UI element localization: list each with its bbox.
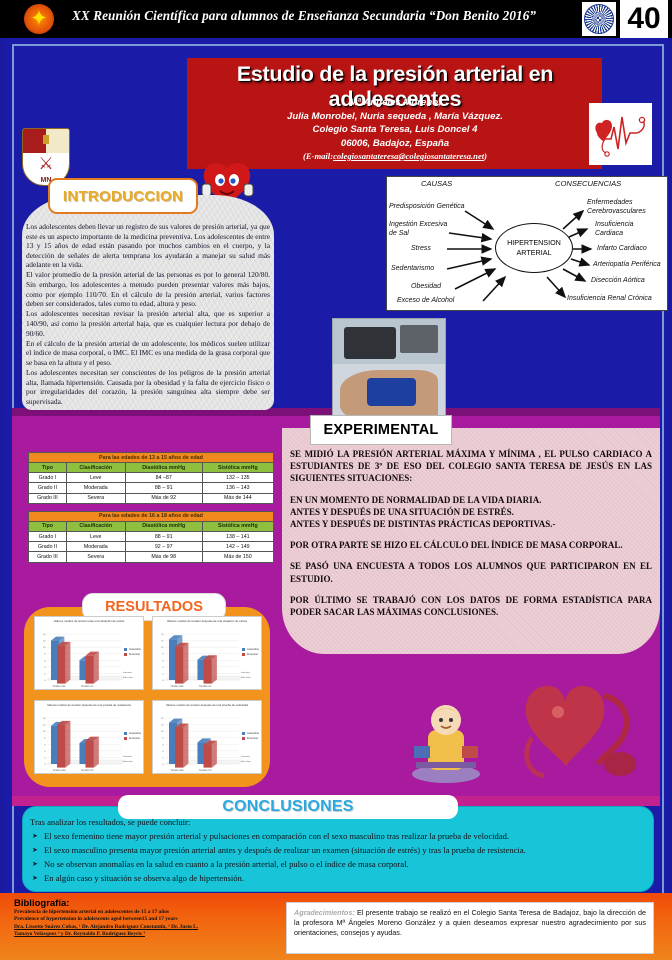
table-header: Clasificación — [66, 463, 125, 473]
diagram-consequence-label: Insuficiencia Renal Crónica — [567, 295, 652, 304]
bibliografia-line: Prevalence of hypertension in adolescent… — [14, 916, 266, 923]
svg-text:2: 2 — [44, 673, 46, 675]
experimental-paragraph: POR ÚLTIMO SE TRABAJÓ CON LOS DATOS DE F… — [290, 594, 652, 618]
intro-paragraph: Los adolescentes necesitan ser conscient… — [26, 368, 270, 406]
table-cell: Grado I — [29, 473, 67, 483]
classification-tables: Para las edades de 13 a 15 años de edad … — [28, 452, 274, 570]
experimental-paragraph: ANTES Y DESPUÉS DE DISTINTAS PRÁCTICAS D… — [290, 518, 652, 530]
svg-text:Tensión mín: Tensión mín — [199, 770, 212, 772]
table-cell: Grado I — [29, 531, 67, 541]
bp-table-16-18: Para las edades de 16 a 18 años de edad … — [28, 511, 274, 563]
conclusiones-lead: Tras analizar los resultados, se puede c… — [30, 816, 646, 829]
svg-text:10: 10 — [43, 647, 46, 649]
poster-number: 40 — [620, 0, 668, 38]
diagram-consequence-label: Disección Aórtica — [591, 277, 645, 286]
table-cell: Leve — [66, 531, 125, 541]
intro-paragraph: Los adolescentes deben llevar un registr… — [26, 222, 270, 270]
svg-text:8: 8 — [44, 654, 46, 656]
chart-tension-prueba-velocidad: Valores medios de tensión después de una… — [152, 700, 262, 774]
diagram-cause-label: Exceso de Alcohol — [397, 297, 454, 306]
institutional-seal-icon — [582, 2, 616, 36]
resultados-badge-label: RESULTADOS — [105, 599, 203, 615]
svg-text:12: 12 — [161, 641, 164, 643]
table-cell: 88 – 91 — [125, 483, 202, 493]
svg-text:Tensión mín: Tensión mín — [81, 686, 94, 688]
chart-legend: masculinofemenino — [242, 647, 259, 657]
author-block: Mª.Angeles Moreno, Julia Monrobel, Nuria… — [190, 96, 600, 164]
svg-text:6: 6 — [162, 744, 164, 746]
chart-tension-antes-estres: Valores medios de tensión ante una situa… — [34, 616, 144, 690]
table-cell: Severa — [66, 493, 125, 503]
bibliografia-line: Tamayo Velásquez ³ y Dr. Reynaldo P. Rod… — [14, 931, 266, 938]
table-cell: Leve — [66, 473, 125, 483]
affiliation-line-1: Colegio Santa Teresa, Luis Doncel 4 — [190, 123, 600, 137]
bibliografia-block: Bibliografía: Prevalencia de hipertensió… — [14, 898, 266, 939]
list-item: El sexo masculino presenta mayor presión… — [30, 844, 646, 857]
diagram-cause-label: Sedentarismo — [391, 265, 434, 274]
table-caption: Para las edades de 16 a 18 años de edad — [29, 511, 274, 521]
svg-text:14: 14 — [43, 718, 46, 720]
heart-ecg-stethoscope-icon — [589, 103, 652, 165]
table-cell: 136 – 143 — [202, 483, 273, 493]
conclusiones-badge-label: CONCLUSIONES — [222, 798, 353, 816]
table-row: Grado I Leve 84 –87 132 – 135 — [29, 473, 274, 483]
diagram-cause-label: Stress — [411, 245, 431, 254]
email-link[interactable]: colegiosantateresa@colegiosantateresa.ne… — [333, 151, 484, 161]
table-header: Diastólica mmHg — [125, 521, 202, 531]
svg-text:0: 0 — [162, 680, 164, 682]
table-row: Grado III Severa Más de 92 Más de 144 — [29, 493, 274, 503]
svg-text:6: 6 — [44, 660, 46, 662]
svg-text:10: 10 — [43, 731, 46, 733]
experimental-text: SE MIDIÓ LA PRESIÓN ARTERIAL MÁXIMA Y MÍ… — [290, 448, 652, 627]
table-row: Grado III Severa Más de 98 Más de 150 — [29, 552, 274, 562]
table-cell: 138 – 141 — [202, 531, 273, 541]
list-item: El sexo femenino tiene mayor presión art… — [30, 830, 646, 843]
diagram-cause-label: Ingestión Excesiva de Sal — [389, 221, 447, 238]
chart-title: Valores medios de tensión después de una… — [153, 703, 261, 707]
svg-text:12: 12 — [43, 725, 46, 727]
table-header: Tipo — [29, 463, 67, 473]
svg-text:Tensión mín: Tensión mín — [81, 770, 94, 772]
diagram-consequence-label: Arteriopatía Periférica — [593, 261, 661, 270]
table-cell: 92 – 97 — [125, 542, 202, 552]
legend-entry: femenino — [242, 652, 259, 657]
table-header: Sistólica mmHg — [202, 521, 273, 531]
table-cell: Más de 150 — [202, 552, 273, 562]
table-cell: 88 – 91 — [125, 531, 202, 541]
intro-paragraph: En el cálculo de la presión arterial de … — [26, 339, 270, 368]
author-line-1: Mª.Angeles Moreno, — [190, 96, 600, 110]
table-cell: 132 – 135 — [202, 473, 273, 483]
experimental-paragraph: ANTES Y DESPUÉS DE UNA SITUACIÓN DE ESTR… — [290, 506, 652, 518]
svg-text:6: 6 — [44, 744, 46, 746]
svg-text:masculino: masculino — [241, 677, 252, 679]
svg-text:femenino: femenino — [123, 756, 133, 758]
svg-text:8: 8 — [162, 738, 164, 740]
experimental-badge-label: EXPERIMENTAL — [324, 422, 439, 438]
table-header: Tipo — [29, 521, 67, 531]
conference-title: XX Reunión Científica para alumnos de En… — [72, 8, 552, 24]
svg-text:8: 8 — [44, 738, 46, 740]
svg-text:12: 12 — [161, 725, 164, 727]
svg-text:Tensión máx: Tensión máx — [53, 770, 67, 772]
table-cell: Más de 98 — [125, 552, 202, 562]
diagram-cause-label: Predisposición Genética — [389, 203, 465, 212]
bibliografia-line: Dra. Lissette Suárez Cobas, ¹ Dr. Alejan… — [14, 924, 266, 931]
chart-legend: masculinofemenino — [242, 731, 259, 741]
table-cell: Moderada — [66, 483, 125, 493]
chart-title: Valores medios de tensión después de una… — [153, 619, 261, 623]
svg-text:Tensión mín: Tensión mín — [199, 686, 212, 688]
table-cell: Más de 144 — [202, 493, 273, 503]
introduccion-text: Los adolescentes deben llevar un registr… — [26, 222, 270, 407]
legend-entry: femenino — [242, 736, 259, 741]
svg-text:2: 2 — [162, 673, 164, 675]
table-cell: Severa — [66, 552, 125, 562]
conclusiones-list: Tras analizar los resultados, se puede c… — [30, 816, 646, 886]
svg-text:14: 14 — [161, 634, 164, 636]
table-cell: Grado II — [29, 542, 67, 552]
email-label: E-mail: — [306, 151, 333, 161]
intro-paragraph: Los adolescentes necesitan revisar la pr… — [26, 309, 270, 338]
blood-pressure-cuff-photo — [332, 318, 446, 426]
svg-text:2: 2 — [162, 757, 164, 759]
poster-root: ✦ XX Reunión Científica para alumnos de … — [0, 0, 672, 960]
diagram-consequence-label: Insuficiencia Cardiaca — [595, 221, 634, 238]
table-row: Grado II Moderada 92 – 97 142 – 149 — [29, 542, 274, 552]
table-header: Clasificación — [66, 521, 125, 531]
table-cell: Grado III — [29, 552, 67, 562]
diagram-center-line-1: HIPERTENSION — [507, 238, 561, 248]
svg-text:masculino: masculino — [123, 761, 134, 763]
list-item: En algún caso y situación se observa alg… — [30, 872, 646, 885]
svg-text:femenino: femenino — [123, 672, 133, 674]
anatomy-organs-clipart-icon — [508, 668, 648, 788]
experimental-paragraph: EN UN MOMENTO DE NORMALIDAD DE LA VIDA D… — [290, 494, 652, 506]
svg-text:4: 4 — [162, 751, 164, 753]
legend-entry: femenino — [124, 736, 141, 741]
table-cell: 84 –87 — [125, 473, 202, 483]
table-cell: Grado II — [29, 483, 67, 493]
svg-text:4: 4 — [44, 667, 46, 669]
svg-text:6: 6 — [162, 660, 164, 662]
svg-text:Tensión máx: Tensión máx — [53, 686, 67, 688]
author-line-2: Julia Monrobel, Nuria sequeda , María Vá… — [190, 110, 600, 124]
svg-text:4: 4 — [44, 751, 46, 753]
experimental-paragraph: SE PASÓ UNA ENCUESTA A TODOS LOS ALUMNOS… — [290, 560, 652, 584]
table-cell: 142 – 149 — [202, 542, 273, 552]
table-cell: Moderada — [66, 542, 125, 552]
svg-text:femenino: femenino — [241, 672, 251, 674]
bp-table-13-15: Para las edades de 13 a 15 años de edad … — [28, 452, 274, 504]
svg-text:14: 14 — [161, 718, 164, 720]
legend-entry: femenino — [124, 652, 141, 657]
diagram-cause-label: Obesidad — [411, 283, 441, 292]
agradecimientos-label: Agradecimientos: — [294, 908, 355, 917]
intro-paragraph: El valor promedio de la presión arterial… — [26, 270, 270, 308]
experimental-paragraph: POR OTRA PARTE SE HIZO EL CÁLCULO DEL ÍN… — [290, 539, 652, 551]
experimental-paragraph: SE MIDIÓ LA PRESIÓN ARTERIAL MÁXIMA Y MÍ… — [290, 448, 652, 485]
diagram-center-line-2: ARTERIAL — [516, 248, 551, 258]
svg-text:12: 12 — [43, 641, 46, 643]
chart-tension-prueba-resistencia: Valores medios de tensión después de una… — [34, 700, 144, 774]
svg-text:Tensión máx: Tensión máx — [171, 770, 185, 772]
table-row: Grado II Moderada 88 – 91 136 – 143 — [29, 483, 274, 493]
chart-tension-despues-estres: Valores medios de tensión después de una… — [152, 616, 262, 690]
svg-text:4: 4 — [162, 667, 164, 669]
chart-legend: masculinofemenino — [124, 731, 141, 741]
table-caption: Para las edades de 13 a 15 años de edad — [29, 453, 274, 463]
chart-title: Valores medios de tensión ante una situa… — [35, 619, 143, 623]
svg-text:10: 10 — [161, 731, 164, 733]
svg-text:14: 14 — [43, 634, 46, 636]
affiliation-line-2: 06006, Badajoz, España — [190, 137, 600, 151]
svg-text:0: 0 — [44, 680, 46, 682]
agradecimientos-box: Agradecimientos: El presente trabajo se … — [286, 902, 654, 954]
bibliografia-title: Bibliografía: — [14, 898, 266, 909]
chart-legend: masculinofemenino — [124, 647, 141, 657]
table-row: Grado I Leve 88 – 91 138 – 141 — [29, 531, 274, 541]
svg-text:0: 0 — [162, 764, 164, 766]
experimental-badge: EXPERIMENTAL — [310, 415, 452, 445]
introduccion-badge: INTRODUCCION — [48, 178, 198, 214]
svg-text:femenino: femenino — [241, 756, 251, 758]
table-header: Sistólica mmHg — [202, 463, 273, 473]
svg-text:10: 10 — [161, 647, 164, 649]
table-cell: Grado III — [29, 493, 67, 503]
bibliografia-line: Prevalencia de hipertensión arterial en … — [14, 909, 266, 916]
list-item: No se observan anomalías en la salud en … — [30, 858, 646, 871]
diagram-center-node: HIPERTENSION ARTERIAL — [495, 223, 573, 273]
hypertension-causes-consequences-diagram: CAUSAS CONSECUENCIAS HIPERTENSION — [386, 176, 668, 311]
diagram-consequence-label: Infarto Cardiaco — [597, 245, 647, 254]
svg-text:Tensión máx: Tensión máx — [171, 686, 185, 688]
chart-title: Valores medios de tensión después de una… — [35, 703, 143, 707]
svg-text:8: 8 — [162, 654, 164, 656]
diagram-consequence-label: Enfermedades Cerebrovasculares — [587, 199, 646, 216]
conference-banner: ✦ XX Reunión Científica para alumnos de … — [0, 0, 672, 38]
table-header: Diastólica mmHg — [125, 463, 202, 473]
student-with-books-clipart-icon — [398, 690, 494, 786]
svg-text:masculino: masculino — [123, 677, 134, 679]
orange-star-logo-icon: ✦ — [24, 4, 54, 34]
svg-text:masculino: masculino — [241, 761, 252, 763]
svg-text:2: 2 — [44, 757, 46, 759]
introduccion-badge-label: INTRODUCCION — [63, 188, 183, 205]
table-cell: Más de 92 — [125, 493, 202, 503]
svg-text:0: 0 — [44, 764, 46, 766]
